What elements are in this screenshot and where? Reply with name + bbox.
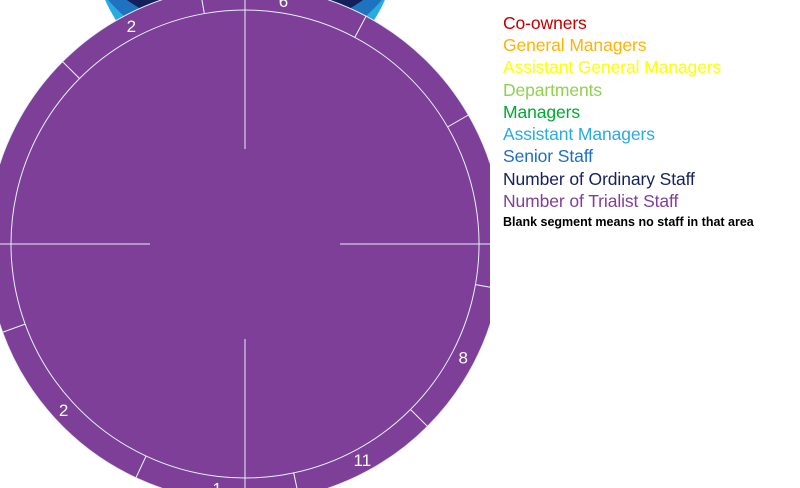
staff-count-label: 6 — [279, 0, 288, 11]
legend-item: Assistant General Managers — [503, 56, 795, 78]
legend-item-label: Senior Staff — [503, 146, 593, 166]
staff-count-label: 1 — [212, 479, 221, 488]
staff-count-label: 2 — [127, 17, 136, 36]
legend-item: Co-owners — [503, 12, 795, 34]
legend: Co-ownersGeneral ManagersAssistant Gener… — [503, 12, 795, 229]
legend-rows: Co-ownersGeneral ManagersAssistant Gener… — [503, 12, 795, 212]
staff-count-label: 8 — [458, 349, 467, 368]
staff-count-label: 11 — [354, 451, 372, 470]
legend-item-label: General Managers — [503, 35, 646, 55]
legend-item: Number of Trialist Staff — [503, 190, 795, 212]
legend-item-label: Number of Trialist Staff — [503, 191, 678, 211]
legend-item-label: Assistant Managers — [503, 124, 655, 144]
staff-count-label: 2 — [59, 401, 68, 420]
legend-item-label: Departments — [503, 80, 602, 100]
legend-item: Number of Ordinary Staff — [503, 168, 795, 190]
legend-item: General Managers — [503, 34, 795, 56]
legend-item-label: Number of Ordinary Staff — [503, 169, 695, 189]
org-sunburst-chart: sierkJinxxMATTGxxSkynusForegetfuhlSyrupy… — [0, 0, 490, 488]
legend-note: Blank segment means no staff in that are… — [503, 215, 795, 229]
legend-item-label: Co-owners — [503, 13, 587, 33]
legend-item: Senior Staff — [503, 145, 795, 167]
legend-item: Departments — [503, 79, 795, 101]
legend-item: Managers — [503, 101, 795, 123]
sunburst-svg: sierkJinxxMATTGxxSkynusForegetfuhlSyrupy… — [0, 0, 490, 488]
legend-item-label: Managers — [503, 102, 580, 122]
legend-item-label: Assistant General Managers — [503, 57, 721, 77]
legend-item: Assistant Managers — [503, 123, 795, 145]
